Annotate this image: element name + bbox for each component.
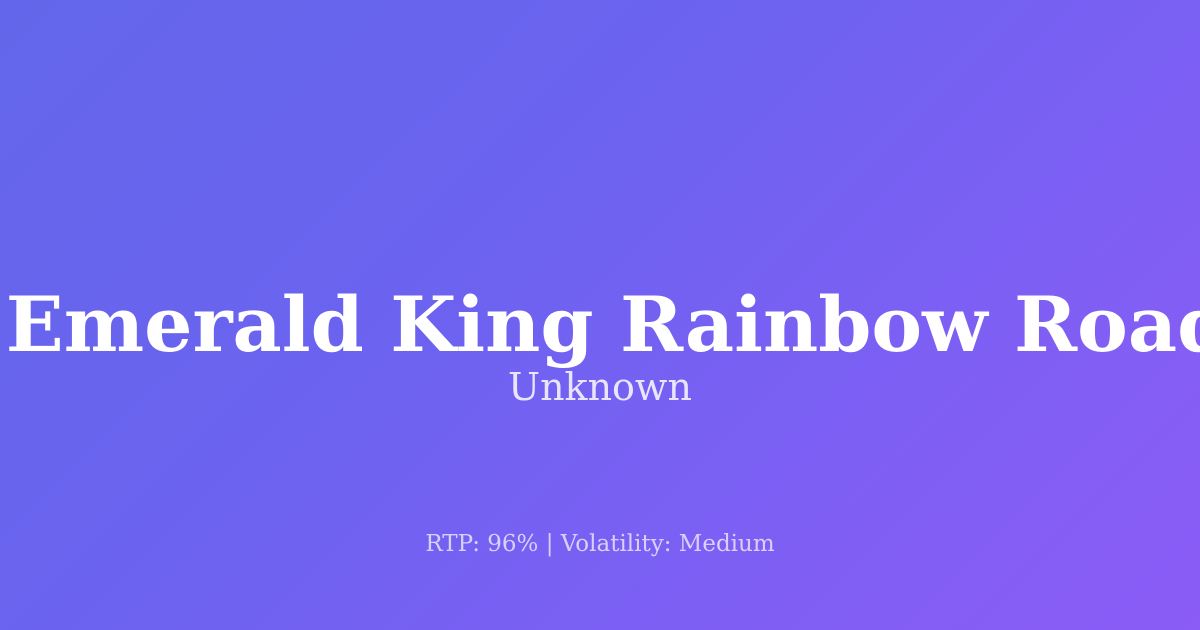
title-row: 1F B0 Emerald King Rainbow Road xyxy=(0,226,1200,322)
og-share-card: 1F B0 Emerald King Rainbow Road Unknown … xyxy=(0,0,1200,630)
game-stats-line: RTP: 96% | Volatility: Medium xyxy=(0,529,1200,559)
page-subtitle: Unknown xyxy=(0,362,1200,412)
page-title: Emerald King Rainbow Road xyxy=(6,277,1200,373)
